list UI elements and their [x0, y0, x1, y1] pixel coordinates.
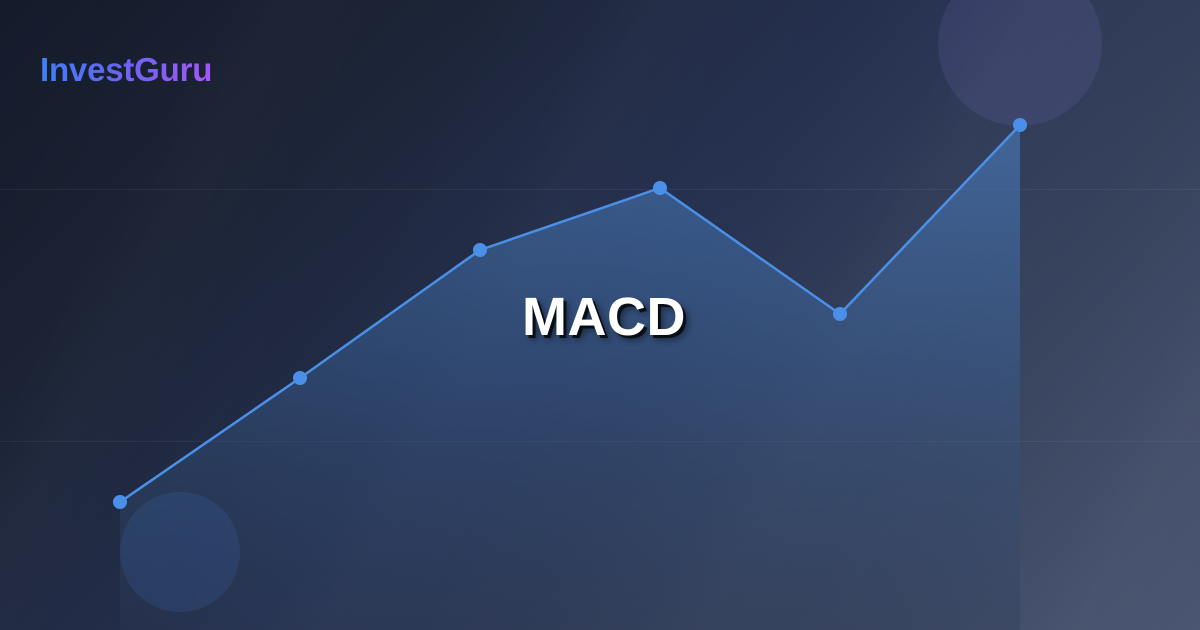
- social-card: InvestGuru MACD: [0, 0, 1200, 630]
- chart-data-point: [113, 495, 127, 509]
- chart-data-point: [293, 371, 307, 385]
- page-title: MACD: [0, 286, 1200, 348]
- chart-area-fill: [120, 125, 1020, 630]
- chart-data-point: [653, 181, 667, 195]
- chart-data-point: [473, 243, 487, 257]
- chart-data-point: [1013, 118, 1027, 132]
- brand-logo: InvestGuru: [40, 50, 212, 90]
